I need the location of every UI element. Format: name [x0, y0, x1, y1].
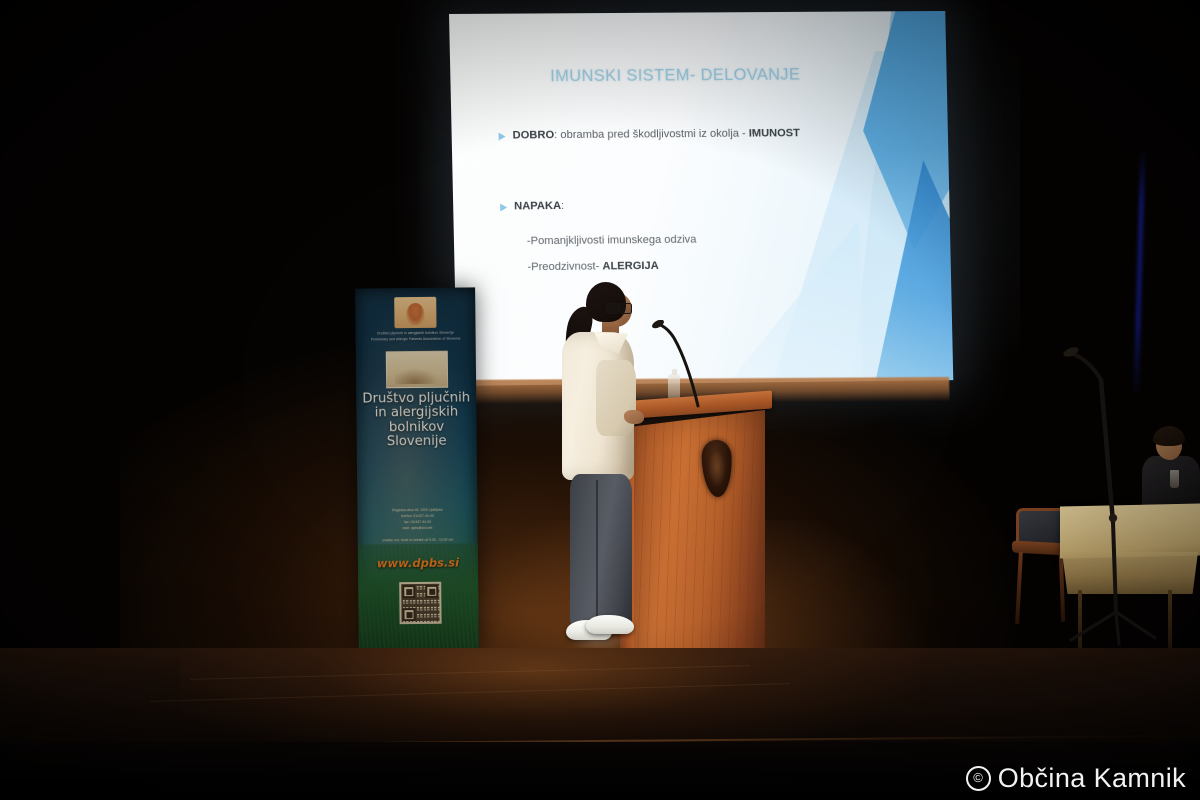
copyright-icon: ©	[966, 766, 991, 791]
slide-bullet-2-text: NAPAKA:	[514, 199, 564, 213]
banner-org-line-2: Pulmonary and Allergic Patients Associat…	[361, 336, 471, 342]
slide-bullet-1-text: DOBRO: obramba pred škodljivostmi iz oko…	[512, 126, 800, 142]
bullet-2-keyword: NAPAKA	[514, 200, 561, 212]
triangle-bullet-icon	[500, 203, 507, 211]
banner-headline: Društvo pljučnih in alergijskih bolnikov…	[358, 391, 475, 449]
bullet-1-keyword: DOBRO	[512, 129, 554, 141]
rollup-banner: Društvo pljučnih in alergijskih bolnikov…	[355, 287, 479, 652]
subbullet-2-lead: -Preodzivnost-	[527, 260, 602, 273]
boom-microphone-stand-icon	[1055, 340, 1175, 660]
presenter-trousers	[570, 474, 632, 626]
slide-bullet-2: NAPAKA:	[500, 199, 564, 214]
copyright-text: Občina Kamnik	[998, 763, 1186, 794]
chair-leg	[1015, 552, 1023, 624]
presenter-hair	[586, 282, 626, 322]
association-logo-icon	[394, 297, 436, 328]
gooseneck-microphone-icon	[652, 320, 708, 416]
photograph-canvas: IMUNSKI SISTEM- DELOVANJE DOBRO: obramba…	[0, 0, 1200, 800]
triangle-bullet-icon	[499, 133, 506, 141]
bullet-2-body: :	[561, 200, 564, 212]
banner-illustration	[386, 351, 448, 389]
slide-title: IMUNSKI SISTEM- DELOVANJE	[550, 66, 800, 87]
bullet-1-body: : obramba pred škodljivostmi iz okolja -	[554, 128, 749, 142]
slide-subbullet-2: -Preodzivnost- ALERGIJA	[527, 260, 659, 273]
banner-headline-line-4: Slovenije	[359, 434, 475, 449]
slide-subbullet-1: -Pomanjkljivosti imunskega odziva	[527, 234, 697, 248]
qr-finder-icon	[402, 608, 415, 621]
subbullet-2-keyword: ALERGIJA	[602, 260, 659, 273]
copyright-watermark: © Občina Kamnik	[966, 763, 1186, 794]
qr-finder-icon	[425, 585, 438, 598]
banner-website-url: www.dpbs.si	[358, 555, 478, 570]
banner-contact-info: Rogaska ulica 04, 1000 Ljubljana telefon…	[361, 506, 473, 531]
eyeglasses-icon	[606, 303, 632, 312]
presenter-figure	[540, 282, 650, 694]
presenter-arm	[596, 360, 636, 436]
qr-finder-icon	[402, 585, 415, 598]
banner-office-hours: Uradne ure: torek in četrtek od 9.00 - 1…	[362, 536, 474, 543]
banner-headline-line-2: in alergijskih	[358, 406, 474, 421]
bullet-1-keyword-2: IMUNOST	[749, 127, 800, 139]
slide-bullet-1: DOBRO: obramba pred škodljivostmi iz oko…	[498, 126, 800, 142]
presenter-shoe-right	[586, 615, 634, 634]
presenter-hand	[624, 410, 644, 424]
qr-code-icon	[399, 582, 441, 624]
